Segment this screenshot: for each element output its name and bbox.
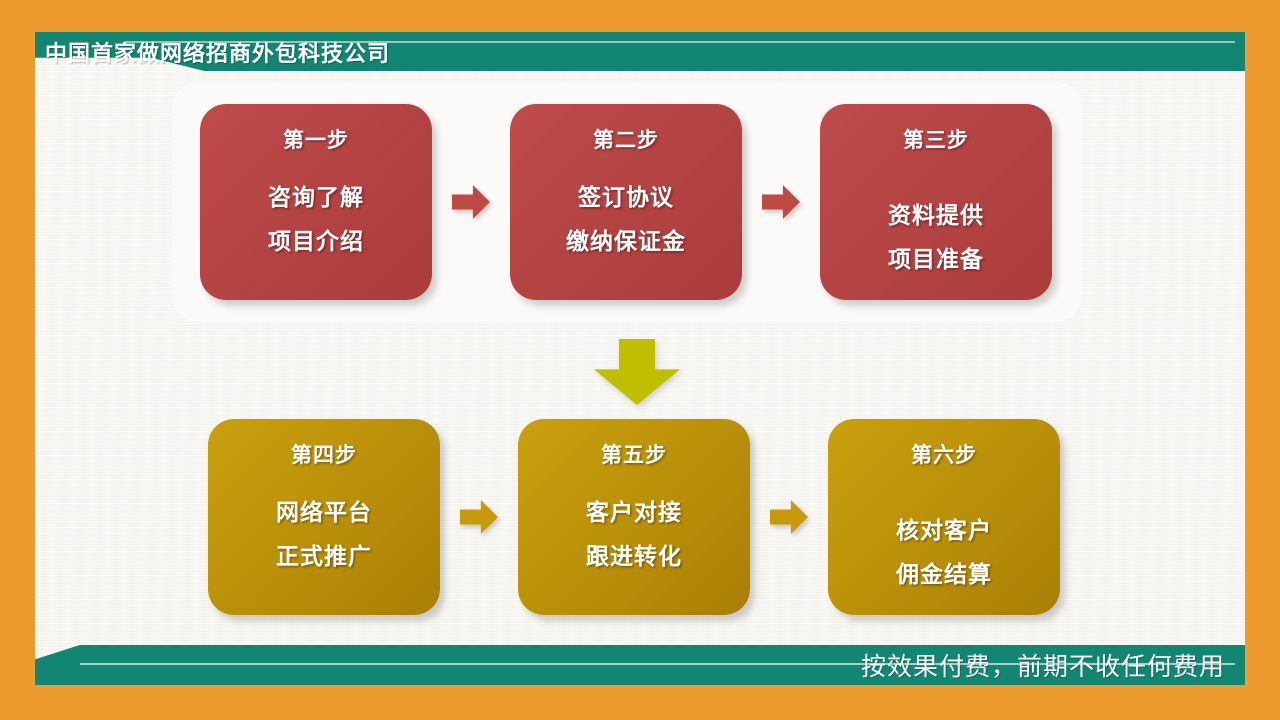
footer-tagline: 按效果付费，前期不收任何费用 bbox=[861, 646, 1225, 684]
step-card-3[interactable]: 第三步 资料提供 项目准备 bbox=[820, 104, 1052, 300]
step-card-3-title: 第三步 bbox=[903, 124, 969, 154]
step-card-5-body: 客户对接 跟进转化 bbox=[586, 493, 682, 571]
page-title: 中国首家做网络招商外包科技公司 bbox=[45, 37, 390, 67]
step-card-4-body: 网络平台 正式推广 bbox=[276, 493, 372, 571]
step-card-3-line-1: 资料提供 bbox=[888, 196, 984, 230]
step-card-2-line-1: 签订协议 bbox=[578, 178, 674, 212]
step-card-5-line-2: 跟进转化 bbox=[586, 537, 682, 571]
step-card-1-title: 第一步 bbox=[283, 124, 349, 154]
step-card-3-line-2: 项目准备 bbox=[888, 240, 984, 274]
step-card-4-line-1: 网络平台 bbox=[276, 493, 372, 527]
step-card-6-line-1: 核对客户 bbox=[896, 511, 992, 545]
step-card-6-body: 核对客户 佣金结算 bbox=[896, 511, 992, 589]
step-card-2-title: 第二步 bbox=[593, 124, 659, 154]
arrow-right-icon bbox=[452, 185, 490, 219]
step-card-1-line-2: 项目介绍 bbox=[268, 222, 364, 256]
step-card-4[interactable]: 第四步 网络平台 正式推广 bbox=[208, 419, 440, 615]
step-card-3-body: 资料提供 项目准备 bbox=[888, 196, 984, 274]
step-card-1[interactable]: 第一步 咨询了解 项目介绍 bbox=[200, 104, 432, 300]
step-card-6-line-2: 佣金结算 bbox=[896, 555, 992, 589]
step-card-6[interactable]: 第六步 核对客户 佣金结算 bbox=[828, 419, 1060, 615]
step-card-1-line-1: 咨询了解 bbox=[268, 178, 364, 212]
step-card-1-body: 咨询了解 项目介绍 bbox=[268, 178, 364, 256]
arrow-right-icon bbox=[770, 500, 808, 534]
step-card-5[interactable]: 第五步 客户对接 跟进转化 bbox=[518, 419, 750, 615]
arrow-right-icon bbox=[762, 185, 800, 219]
step-card-4-line-2: 正式推广 bbox=[276, 537, 372, 571]
slide: 中国首家做网络招商外包科技公司 第一步 咨询了解 项目介绍 第二步 签订协议 缴… bbox=[0, 0, 1280, 720]
arrow-right-icon bbox=[460, 500, 498, 534]
step-card-2-body: 签订协议 缴纳保证金 bbox=[566, 178, 686, 256]
step-card-2-line-2: 缴纳保证金 bbox=[566, 222, 686, 256]
step-card-2[interactable]: 第二步 签订协议 缴纳保证金 bbox=[510, 104, 742, 300]
step-card-5-title: 第五步 bbox=[601, 439, 667, 469]
step-card-4-title: 第四步 bbox=[291, 439, 357, 469]
step-card-6-title: 第六步 bbox=[911, 439, 977, 469]
arrow-down-icon bbox=[594, 339, 680, 405]
flow-row-1: 第一步 咨询了解 项目介绍 第二步 签订协议 缴纳保证金 第三步 资料提供 项目… bbox=[200, 104, 1052, 300]
step-card-5-line-1: 客户对接 bbox=[586, 493, 682, 527]
flow-row-2: 第四步 网络平台 正式推广 第五步 客户对接 跟进转化 第六步 核对客户 佣金结… bbox=[208, 419, 1060, 615]
